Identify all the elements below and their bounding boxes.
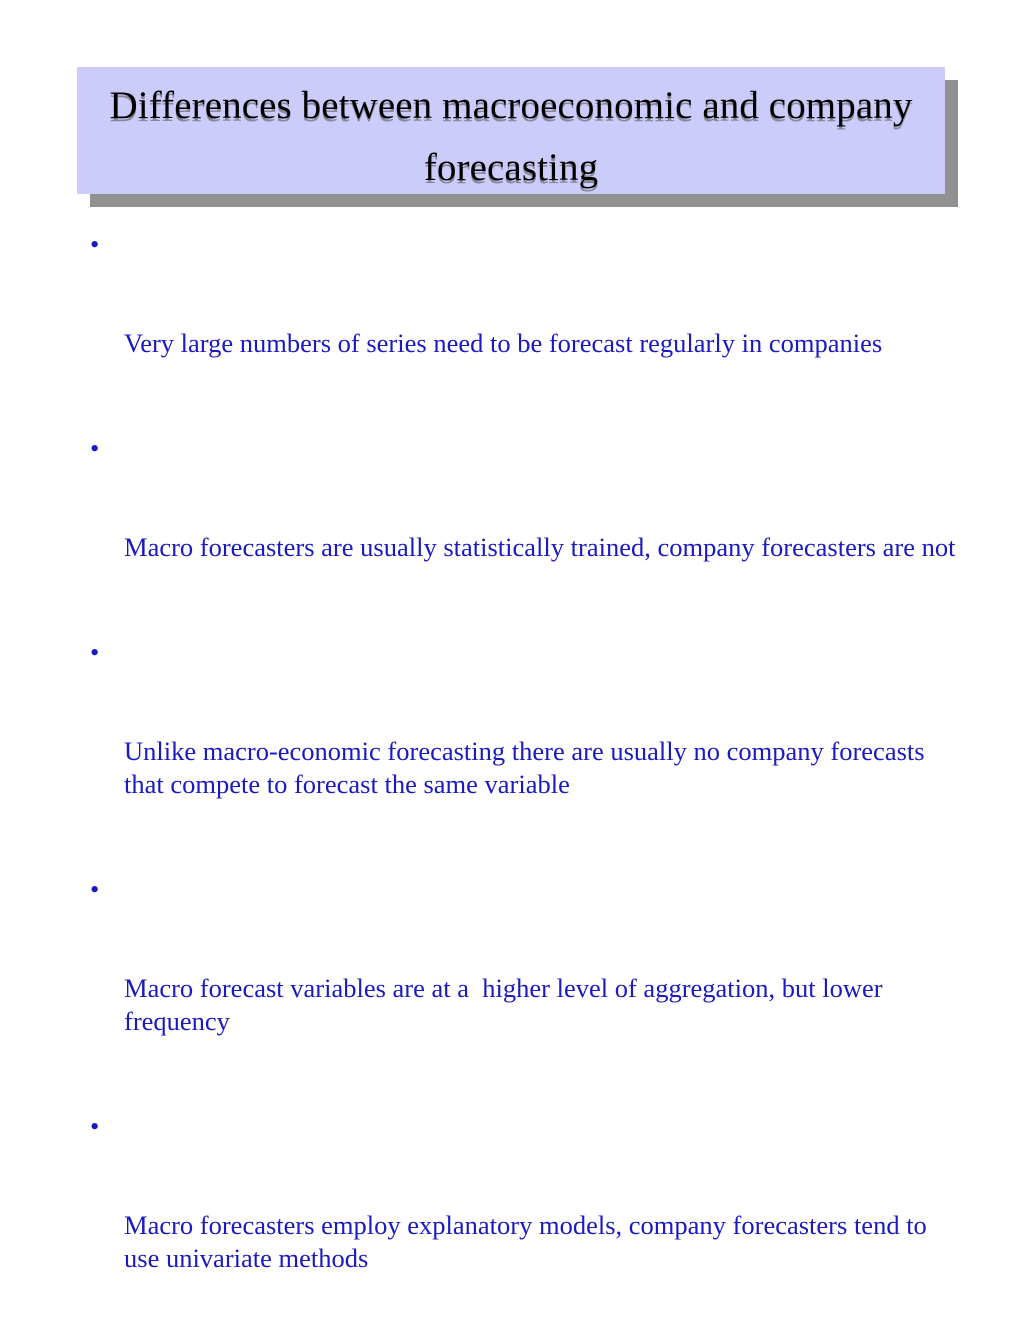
list-item-text: Very large numbers of series need to be …	[124, 327, 957, 360]
bullet-list: • Very large numbers of series need to b…	[77, 228, 957, 1341]
list-item-text: Macro forecasters employ explanatory mod…	[124, 1209, 957, 1275]
list-item-text: Unlike macro-economic forecasting there …	[124, 735, 957, 801]
bullet-point-icon: •	[90, 873, 99, 906]
title-box: Differences between macroeconomic and co…	[77, 67, 945, 194]
bullet-point-icon: •	[90, 1110, 99, 1143]
list-item-text: Macro forecast variables are at a higher…	[124, 972, 957, 1038]
page-title: Differences between macroeconomic and co…	[77, 67, 945, 199]
presentation-slide: Differences between macroeconomic and co…	[0, 0, 1024, 768]
bullet-point-icon: •	[90, 636, 99, 669]
list-item: • Macro forecasters employ explanatory m…	[77, 1110, 957, 1341]
list-item: • Macro forecasters are usually statisti…	[77, 432, 957, 630]
list-item: • Macro forecast variables are at a high…	[77, 873, 957, 1104]
bullet-point-icon: •	[90, 432, 99, 465]
slide-title-block: Differences between macroeconomic and co…	[77, 67, 945, 194]
bullet-point-icon: •	[90, 228, 99, 261]
list-item: • Very large numbers of series need to b…	[77, 228, 957, 426]
list-item-text: Macro forecasters are usually statistica…	[124, 531, 957, 564]
list-item: • Unlike macro-economic forecasting ther…	[77, 636, 957, 867]
